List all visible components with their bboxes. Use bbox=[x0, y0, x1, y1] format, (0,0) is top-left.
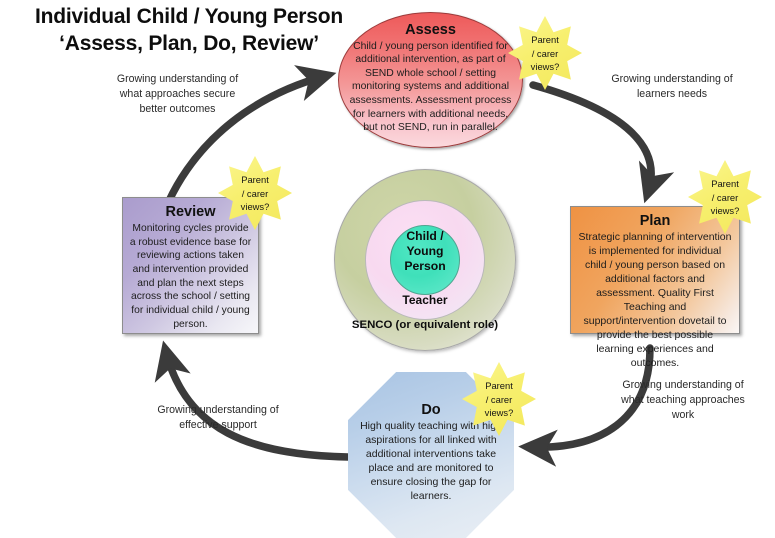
star-label: Parent/ carerviews? bbox=[218, 173, 292, 214]
star-parent-carer-views-assess[interactable]: Parent/ carerviews? bbox=[508, 16, 582, 90]
star-label: Parent/ carerviews? bbox=[462, 379, 536, 420]
caption-assess-to-plan: Growing understanding of learners needs bbox=[608, 72, 736, 102]
ring-outer-label: SENCO (or equivalent role) bbox=[334, 319, 516, 331]
ring-middle-label: Teacher bbox=[365, 293, 485, 307]
star-parent-carer-views-do[interactable]: Parent/ carerviews? bbox=[462, 362, 536, 436]
star-parent-carer-views-plan[interactable]: Parent/ carerviews? bbox=[688, 160, 762, 234]
caption-do-to-review: Growing understanding of effective suppo… bbox=[148, 403, 288, 433]
star-label: Parent/ carerviews? bbox=[508, 33, 582, 74]
node-review-body: Monitoring cycles provide a robust evide… bbox=[129, 222, 252, 332]
node-plan-body: Strategic planning of intervention is im… bbox=[577, 231, 733, 371]
node-assess-body: Child / young person identified for addi… bbox=[348, 40, 513, 135]
concentric-roles-diagram: Child /YoungPerson Teacher SENCO (or equ… bbox=[334, 169, 516, 351]
ring-inner-label: Child /YoungPerson bbox=[390, 229, 460, 274]
caption-plan-to-do: Growing understanding of what teaching a… bbox=[618, 378, 748, 423]
node-assess-heading: Assess bbox=[348, 23, 513, 39]
node-assess[interactable]: Assess Child / young person identified f… bbox=[338, 12, 523, 148]
star-label: Parent/ carerviews? bbox=[688, 177, 762, 218]
diagram-canvas: Individual Child / Young Person ‘Assess,… bbox=[0, 0, 775, 537]
star-parent-carer-views-review[interactable]: Parent/ carerviews? bbox=[218, 156, 292, 230]
caption-review-to-assess: Growing understanding of what approaches… bbox=[110, 72, 245, 117]
